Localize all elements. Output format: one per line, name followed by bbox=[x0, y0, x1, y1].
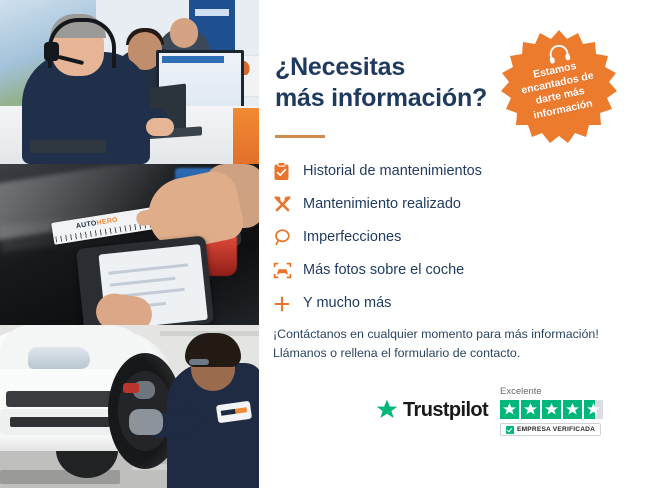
page-title-line-2: más información? bbox=[275, 84, 487, 112]
keyboard bbox=[30, 140, 106, 153]
trustpilot-rating: Excelente EMPRESA VERIFICADA bbox=[500, 386, 603, 439]
contact-line-1: ¡Contáctanos en cualquier momento para m… bbox=[273, 327, 599, 341]
orange-equipment bbox=[233, 108, 259, 164]
verified-company-badge: EMPRESA VERIFICADA bbox=[500, 423, 601, 436]
photo-car-inspection-ruler-tablet: AUTOHERO bbox=[0, 164, 259, 325]
tablet-text-line bbox=[108, 263, 188, 274]
star-filled bbox=[521, 400, 540, 419]
page-title-line-1: ¿Necesitas bbox=[275, 53, 405, 81]
background-head-3 bbox=[170, 18, 198, 48]
car-grille bbox=[6, 391, 124, 407]
feature-label: Mantenimiento realizado bbox=[303, 197, 461, 212]
star-partial bbox=[584, 400, 603, 419]
feature-list: Historial de mantenimientos Mantenimient… bbox=[273, 155, 643, 320]
rating-label: Excelente bbox=[500, 386, 603, 397]
photo-mechanic-wheel-inspection bbox=[0, 325, 259, 488]
trustpilot-star-icon bbox=[375, 398, 399, 422]
verified-label: EMPRESA VERIFICADA bbox=[517, 426, 595, 433]
feature-label: Más fotos sobre el coche bbox=[303, 263, 464, 278]
contact-copy: ¡Contáctanos en cualquier momento para m… bbox=[273, 325, 633, 363]
star-filled bbox=[563, 400, 582, 419]
feature-label: Y mucho más bbox=[303, 296, 391, 311]
star-filled bbox=[542, 400, 561, 419]
car-lower-grille bbox=[10, 417, 110, 427]
magnifier-icon bbox=[273, 228, 303, 247]
star-rating bbox=[500, 400, 603, 419]
safety-glasses bbox=[189, 359, 209, 365]
trustpilot-widget[interactable]: Trustpilot Excelente EMPRESA VERIFICADA bbox=[375, 386, 637, 448]
information-promo-poster: AUTOHERO bbox=[0, 0, 650, 488]
verified-check-icon bbox=[506, 426, 514, 434]
feature-item-mas: Y mucho más bbox=[273, 287, 643, 320]
photo-call-center-agent-headset bbox=[0, 0, 259, 164]
tablet-text-line bbox=[110, 277, 176, 287]
support-badge: Estamos encantados de darte más informac… bbox=[499, 28, 619, 148]
feature-label: Imperfecciones bbox=[303, 230, 401, 245]
feature-item-mantenimiento: Mantenimiento realizado bbox=[273, 188, 643, 221]
wrench-screwdriver-icon bbox=[273, 195, 303, 214]
agent-hand bbox=[146, 118, 174, 136]
monitor-screen-bar bbox=[162, 56, 224, 63]
feature-label: Historial de mantenimientos bbox=[303, 164, 482, 179]
car-headlight bbox=[28, 347, 90, 369]
title-divider bbox=[275, 135, 325, 138]
trustpilot-wordmark: Trustpilot bbox=[403, 399, 488, 422]
feature-item-fotos: Más fotos sobre el coche bbox=[273, 254, 643, 287]
plus-icon bbox=[273, 295, 303, 313]
agent-headset-earcup bbox=[44, 42, 59, 61]
trustpilot-logo: Trustpilot bbox=[375, 398, 488, 422]
car-scan-icon bbox=[273, 261, 303, 280]
hand-tool bbox=[123, 383, 139, 393]
feature-item-historial: Historial de mantenimientos bbox=[273, 155, 643, 188]
page-title: ¿Necesitas más información? bbox=[275, 52, 525, 113]
clipboard-check-icon bbox=[273, 162, 303, 181]
mechanic-glove bbox=[129, 409, 163, 435]
photo-column: AUTOHERO bbox=[0, 0, 259, 488]
content-panel: ¿Necesitas más información? Estamos enca… bbox=[259, 0, 650, 488]
contact-line-2: Llámanos o rellena el formulario de cont… bbox=[273, 346, 520, 360]
feature-item-imperfecciones: Imperfecciones bbox=[273, 221, 643, 254]
star-filled bbox=[500, 400, 519, 419]
